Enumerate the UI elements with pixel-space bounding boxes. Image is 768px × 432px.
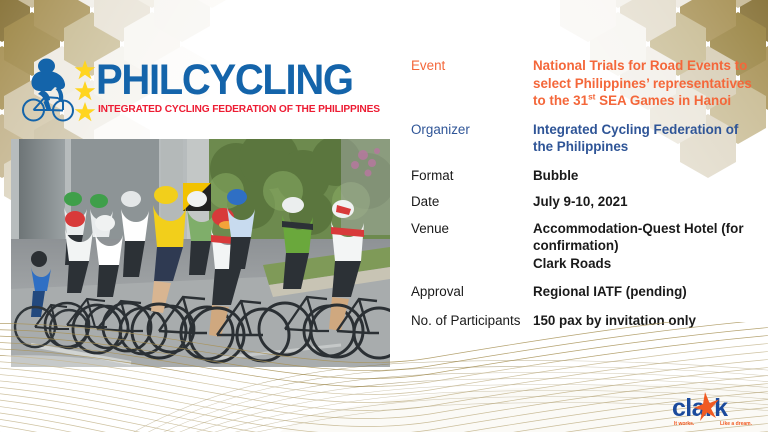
clark-tagline-right: Like a dream. — [720, 421, 753, 427]
row-label-approval: Approval — [411, 283, 533, 301]
table-row-venue: Venue Accommodation-Quest Hotel (for con… — [411, 220, 756, 273]
row-value-participants: 150 pax by invitation only — [533, 312, 756, 330]
row-label-event: Event — [411, 57, 533, 75]
row-label-participants: No. of Participants — [411, 312, 533, 330]
logo-subtitle: INTEGRATED CYCLING FEDERATION OF THE PHI… — [98, 104, 365, 116]
event-details-table: Event National Trials for Road Events to… — [411, 57, 756, 338]
cycling-peloton-photo — [11, 139, 390, 367]
row-value-venue: Accommodation-Quest Hotel (for confirmat… — [533, 220, 756, 273]
row-label-date: Date — [411, 193, 533, 211]
row-label-venue: Venue — [411, 220, 533, 238]
table-row-date: Date July 9-10, 2021 — [411, 193, 756, 211]
event-value-post: SEA Games in Hanoi — [595, 93, 731, 108]
row-label-organizer: Organizer — [411, 121, 533, 139]
table-row-participants: No. of Participants 150 pax by invitatio… — [411, 312, 756, 330]
row-value-organizer: Integrated Cycling Federation of the Phi… — [533, 121, 756, 156]
table-row-event: Event National Trials for Road Events to… — [411, 57, 756, 110]
three-stars-icon — [74, 60, 96, 122]
table-row-format: Format Bubble — [411, 167, 756, 185]
row-value-date: July 9-10, 2021 — [533, 193, 756, 211]
philcycling-logo: PHILCYCLING INTEGRATED CYCLING FEDERATIO… — [18, 57, 363, 123]
table-row-approval: Approval Regional IATF (pending) — [411, 283, 756, 301]
clark-tagline-left: It works. — [674, 421, 695, 427]
clark-logo: clark It works. Like a dream. — [672, 392, 760, 428]
logo-wordmark: PHILCYCLING — [96, 57, 345, 105]
cyclist-silhouette-icon — [18, 57, 74, 123]
presentation-slide: PHILCYCLING INTEGRATED CYCLING FEDERATIO… — [0, 0, 768, 432]
row-value-event: National Trials for Road Events to selec… — [533, 57, 756, 110]
row-value-approval: Regional IATF (pending) — [533, 283, 756, 301]
row-value-format: Bubble — [533, 167, 756, 185]
table-row-organizer: Organizer Integrated Cycling Federation … — [411, 121, 756, 156]
row-label-format: Format — [411, 167, 533, 185]
